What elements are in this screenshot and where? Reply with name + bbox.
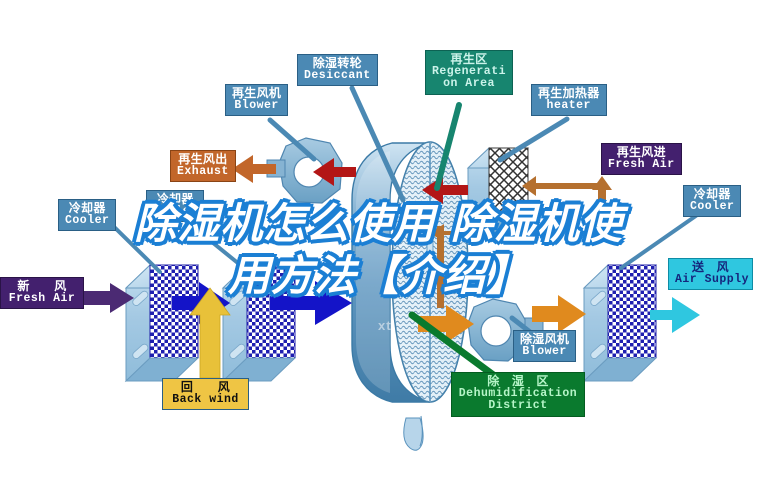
callout-cooler-left-en: Cooler [65,215,109,227]
callout-regeneration-area-cn: 再生区 [432,53,506,66]
arrow-orange-exhaust [232,155,276,183]
arrow-regen-brown-horizontal [522,176,612,242]
callout-desiccant-rotor[interactable]: 除湿转轮 Desiccant [297,54,378,86]
callout-regeneration-exhaust-en: Exhaust [177,166,229,178]
callout-regeneration-exhaust[interactable]: 再生风出 Exhaust [170,150,236,182]
cooler-unit-left [126,265,198,381]
arrow-air-supply-cyan [650,297,700,333]
cooler-unit-right [584,265,656,381]
callout-dehumidification-district-cn: 除 湿 区 [458,375,578,388]
callout-regeneration-blower[interactable]: 再生风机 Blower [225,84,288,116]
callout-air-supply-outlet[interactable]: 送 风 Air Supply [668,258,753,290]
callout-back-wind-inlet[interactable]: 回 风 Back wind [162,378,249,410]
callout-regeneration-fresh-air-cn: 再生风进 [608,146,675,159]
callout-regeneration-fresh-air-en: Fresh Air [608,159,675,171]
callout-cooler-left-cn: 冷却器 [65,202,109,215]
callout-fresh-air-inlet-cn: 新 风 [7,280,77,293]
callout-cooler-right[interactable]: 冷却器 Cooler [683,185,741,217]
callout-regeneration-area-en-2: on Area [432,78,506,90]
callout-cooler-right-en: Cooler [690,201,734,213]
callout-regeneration-blower-cn: 再生风机 [232,87,281,100]
cooler-unit-middle [223,265,295,381]
callout-regeneration-heater-cn: 再生加热器 [538,87,600,100]
callout-dehumidification-district-en-2: District [458,400,578,412]
callout-desiccant-rotor-cn: 除湿转轮 [304,57,371,70]
callout-back-wind-inlet-cn: 回 风 [169,381,242,394]
callout-regeneration-blower-en: Blower [232,100,281,112]
callout-regeneration-exhaust-cn: 再生风出 [177,153,229,166]
callout-air-supply-outlet-en: Air Supply [675,274,746,286]
callout-dehumidification-district[interactable]: 除 湿 区 Dehumidification District [451,372,585,417]
callout-regeneration-heater[interactable]: 再生加热器 heater [531,84,607,116]
callout-dehumidification-blower-en: Blower [520,346,569,358]
callout-cooler-middle-en: Cooler [153,206,197,218]
callout-back-wind-inlet-en: Back wind [169,394,242,406]
callout-fresh-air-inlet[interactable]: 新 风 Fresh Air [0,277,84,309]
dehumidifier-diagram: 除湿转轮 Desiccant 再生风机 Blower 再生区 Regenerat… [0,0,757,488]
callout-air-supply-outlet-cn: 送 风 [675,261,746,274]
callout-regeneration-area[interactable]: 再生区 Regenerati on Area [425,50,513,95]
callout-cooler-middle[interactable]: 冷却器 Cooler [146,190,204,222]
callout-regeneration-fresh-air[interactable]: 再生风进 Fresh Air [601,143,682,175]
callout-cooler-left[interactable]: 冷却器 Cooler [58,199,116,231]
callout-dehumidification-blower[interactable]: 除湿风机 Blower [513,330,576,362]
callout-fresh-air-inlet-en: Fresh Air [7,293,77,305]
diagram-artwork [0,0,757,488]
callout-dehumidification-blower-cn: 除湿风机 [520,333,569,346]
callout-desiccant-rotor-en: Desiccant [304,70,371,82]
callout-cooler-right-cn: 冷却器 [690,188,734,201]
callout-regeneration-heater-en: heater [538,100,600,112]
callout-cooler-middle-cn: 冷却器 [153,193,197,206]
